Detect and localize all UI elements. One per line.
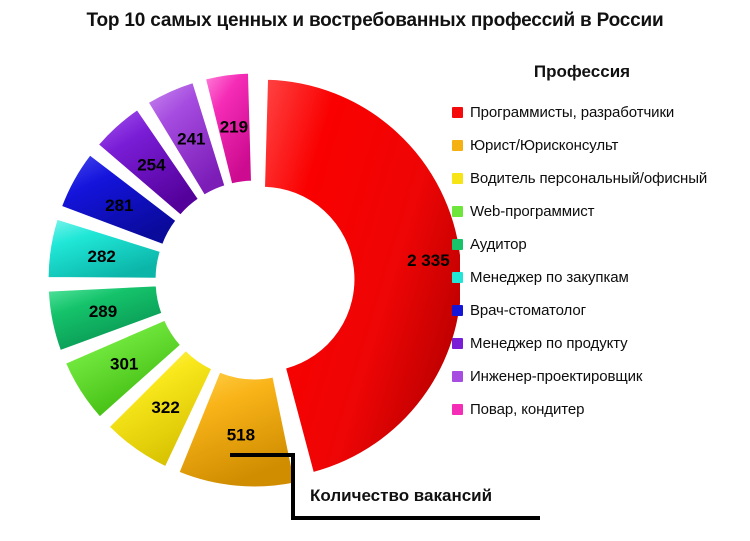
legend-item-label: Аудитор [470, 236, 527, 253]
slice-value-label: 322 [151, 398, 179, 417]
legend-swatch-icon [452, 173, 463, 184]
legend-item-label: Менеджер по закупкам [470, 269, 629, 286]
legend-item[interactable]: Инженер-проектировщик [452, 360, 748, 393]
legend-swatch-icon [452, 272, 463, 283]
slice-value-label: 281 [105, 196, 133, 215]
legend-item[interactable]: Web-программист [452, 195, 748, 228]
legend-swatch-icon [452, 371, 463, 382]
value-axis-label: Количество вакансий [310, 486, 492, 506]
legend-item-label: Врач-стоматолог [470, 302, 586, 319]
legend-swatch-icon [452, 239, 463, 250]
legend-item-label: Юрист/Юрисконсульт [470, 137, 618, 154]
legend-item[interactable]: Аудитор [452, 228, 748, 261]
legend-item-label: Водитель персональный/офисный [470, 170, 707, 187]
slice-value-label: 301 [110, 355, 138, 374]
legend-item[interactable]: Юрист/Юрисконсульт [452, 129, 748, 162]
donut-slice[interactable] [265, 79, 460, 472]
legend: Профессия Программисты, разработчикиЮрис… [452, 62, 748, 426]
slice-value-label: 289 [89, 302, 117, 321]
legend-item-label: Повар, кондитер [470, 401, 584, 418]
legend-item[interactable]: Менеджер по продукту [452, 327, 748, 360]
chart-title: Top 10 самых ценных и востребованных про… [60, 8, 690, 33]
legend-item[interactable]: Менеджер по закупкам [452, 261, 748, 294]
slice-value-label: 254 [137, 156, 166, 175]
legend-swatch-icon [452, 338, 463, 349]
slice-value-label: 241 [177, 130, 205, 149]
slice-value-label: 2 335 [407, 251, 450, 270]
legend-swatch-icon [452, 305, 463, 316]
chart-container: Top 10 самых ценных и востребованных про… [0, 0, 750, 541]
legend-swatch-icon [452, 404, 463, 415]
legend-item-label: Программисты, разработчики [470, 104, 674, 121]
legend-swatch-icon [452, 206, 463, 217]
slice-value-label: 518 [227, 426, 255, 445]
legend-swatch-icon [452, 107, 463, 118]
donut-chart-svg: 2 335518322301289282281254241219 [0, 52, 460, 492]
slice-value-label: 282 [88, 247, 116, 266]
legend-item[interactable]: Программисты, разработчики [452, 96, 748, 129]
legend-item-label: Менеджер по продукту [470, 335, 628, 352]
legend-item[interactable]: Повар, кондитер [452, 393, 748, 426]
slice-value-label: 219 [220, 117, 248, 136]
donut-chart: 2 335518322301289282281254241219 [0, 52, 460, 492]
legend-swatch-icon [452, 140, 463, 151]
legend-items: Программисты, разработчикиЮрист/Юрисконс… [452, 96, 748, 426]
legend-item-label: Инженер-проектировщик [470, 368, 642, 385]
legend-title: Профессия [452, 62, 748, 82]
legend-item-label: Web-программист [470, 203, 594, 220]
legend-item[interactable]: Врач-стоматолог [452, 294, 748, 327]
legend-item[interactable]: Водитель персональный/офисный [452, 162, 748, 195]
